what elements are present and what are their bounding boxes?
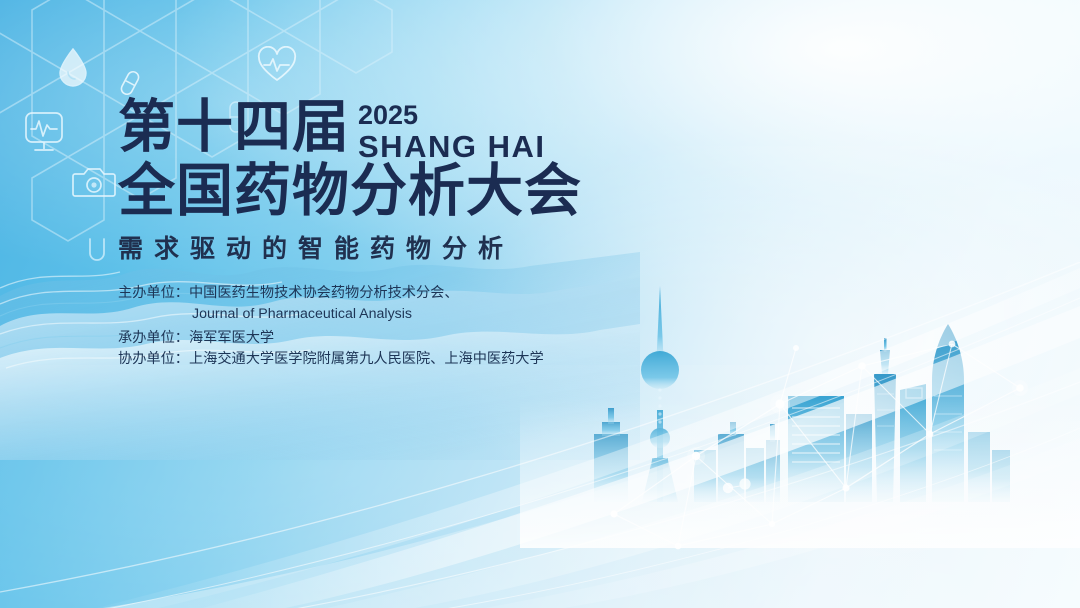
organizer-row: 协办单位：上海交通大学医学院附属第九人民医院、上海中医药大学 xyxy=(118,349,758,370)
poster-subtitle: 需求驱动的智能药物分析 xyxy=(118,229,758,265)
title-cn-line1: 第十四届 xyxy=(118,98,350,156)
organizer-sub: Journal of Pharmaceutical Analysis xyxy=(118,304,758,324)
organizer-label: 协办单位： xyxy=(118,351,189,367)
organizers-block: 主办单位：中国医药生物技术协会药物分析技术分会、 Journal of Phar… xyxy=(118,283,758,370)
water-drop-icon xyxy=(56,46,90,88)
conference-poster: 第十四届 2025 SHANG HAI 全国药物分析大会 需求驱动的智能药物分析… xyxy=(0,0,1080,608)
ecg-monitor-icon xyxy=(22,110,66,156)
organizer-label: 承办单位： xyxy=(118,330,189,346)
heart-pulse-icon xyxy=(256,46,298,84)
title-en-block: 2025 SHANG HAI xyxy=(358,102,545,162)
title-city-en: SHANG HAI xyxy=(358,131,545,163)
organizer-row: 承办单位：海军军医大学 xyxy=(118,328,758,349)
headline-row: 第十四届 2025 SHANG HAI xyxy=(118,98,758,162)
title-cn-line2: 全国药物分析大会 xyxy=(118,160,758,222)
organizer-label: 主办单位： xyxy=(118,285,189,301)
organizer-value: 海军军医大学 xyxy=(189,330,274,346)
title-year: 2025 xyxy=(358,102,545,130)
organizer-value: 中国医药生物技术协会药物分析技术分会、 xyxy=(189,285,459,301)
camera-icon xyxy=(72,164,116,200)
poster-content: 第十四届 2025 SHANG HAI 全国药物分析大会 需求驱动的智能药物分析… xyxy=(118,98,758,370)
organizer-value: 上海交通大学医学院附属第九人民医院、上海中医药大学 xyxy=(189,351,544,367)
capsule-pill-icon xyxy=(119,68,141,98)
organizer-row: 主办单位：中国医药生物技术协会药物分析技术分会、 xyxy=(118,283,758,304)
